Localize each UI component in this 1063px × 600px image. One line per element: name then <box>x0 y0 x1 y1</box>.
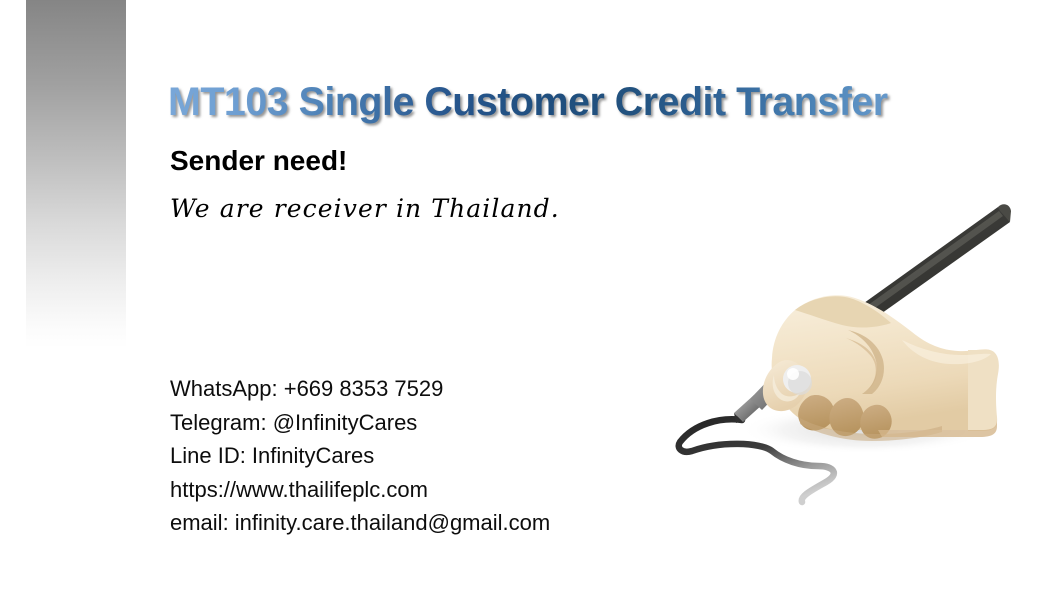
contact-info-block: WhatsApp: +669 8353 7529 Telegram: @Infi… <box>170 372 550 540</box>
left-gradient-bar <box>26 0 126 348</box>
contact-line-whatsapp: WhatsApp: +669 8353 7529 <box>170 372 550 406</box>
contact-line-lineid: Line ID: InfinityCares <box>170 439 550 473</box>
page-title: MT103 Single Customer Credit Transfer <box>168 78 995 126</box>
contact-line-website[interactable]: https://www.thailifeplc.com <box>170 473 550 507</box>
contact-line-telegram: Telegram: @InfinityCares <box>170 406 550 440</box>
contact-line-email[interactable]: email: infinity.care.thailand@gmail.com <box>170 506 550 540</box>
hand-writing-illustration <box>650 198 1030 520</box>
pen-grip-bead-highlight <box>787 368 799 380</box>
slide-canvas: MT103 Single Customer Credit Transfer Se… <box>0 0 1063 600</box>
subheadline-script-text: We are receiver in Thailand. <box>170 193 560 225</box>
headline-text: Sender need! <box>170 144 347 178</box>
